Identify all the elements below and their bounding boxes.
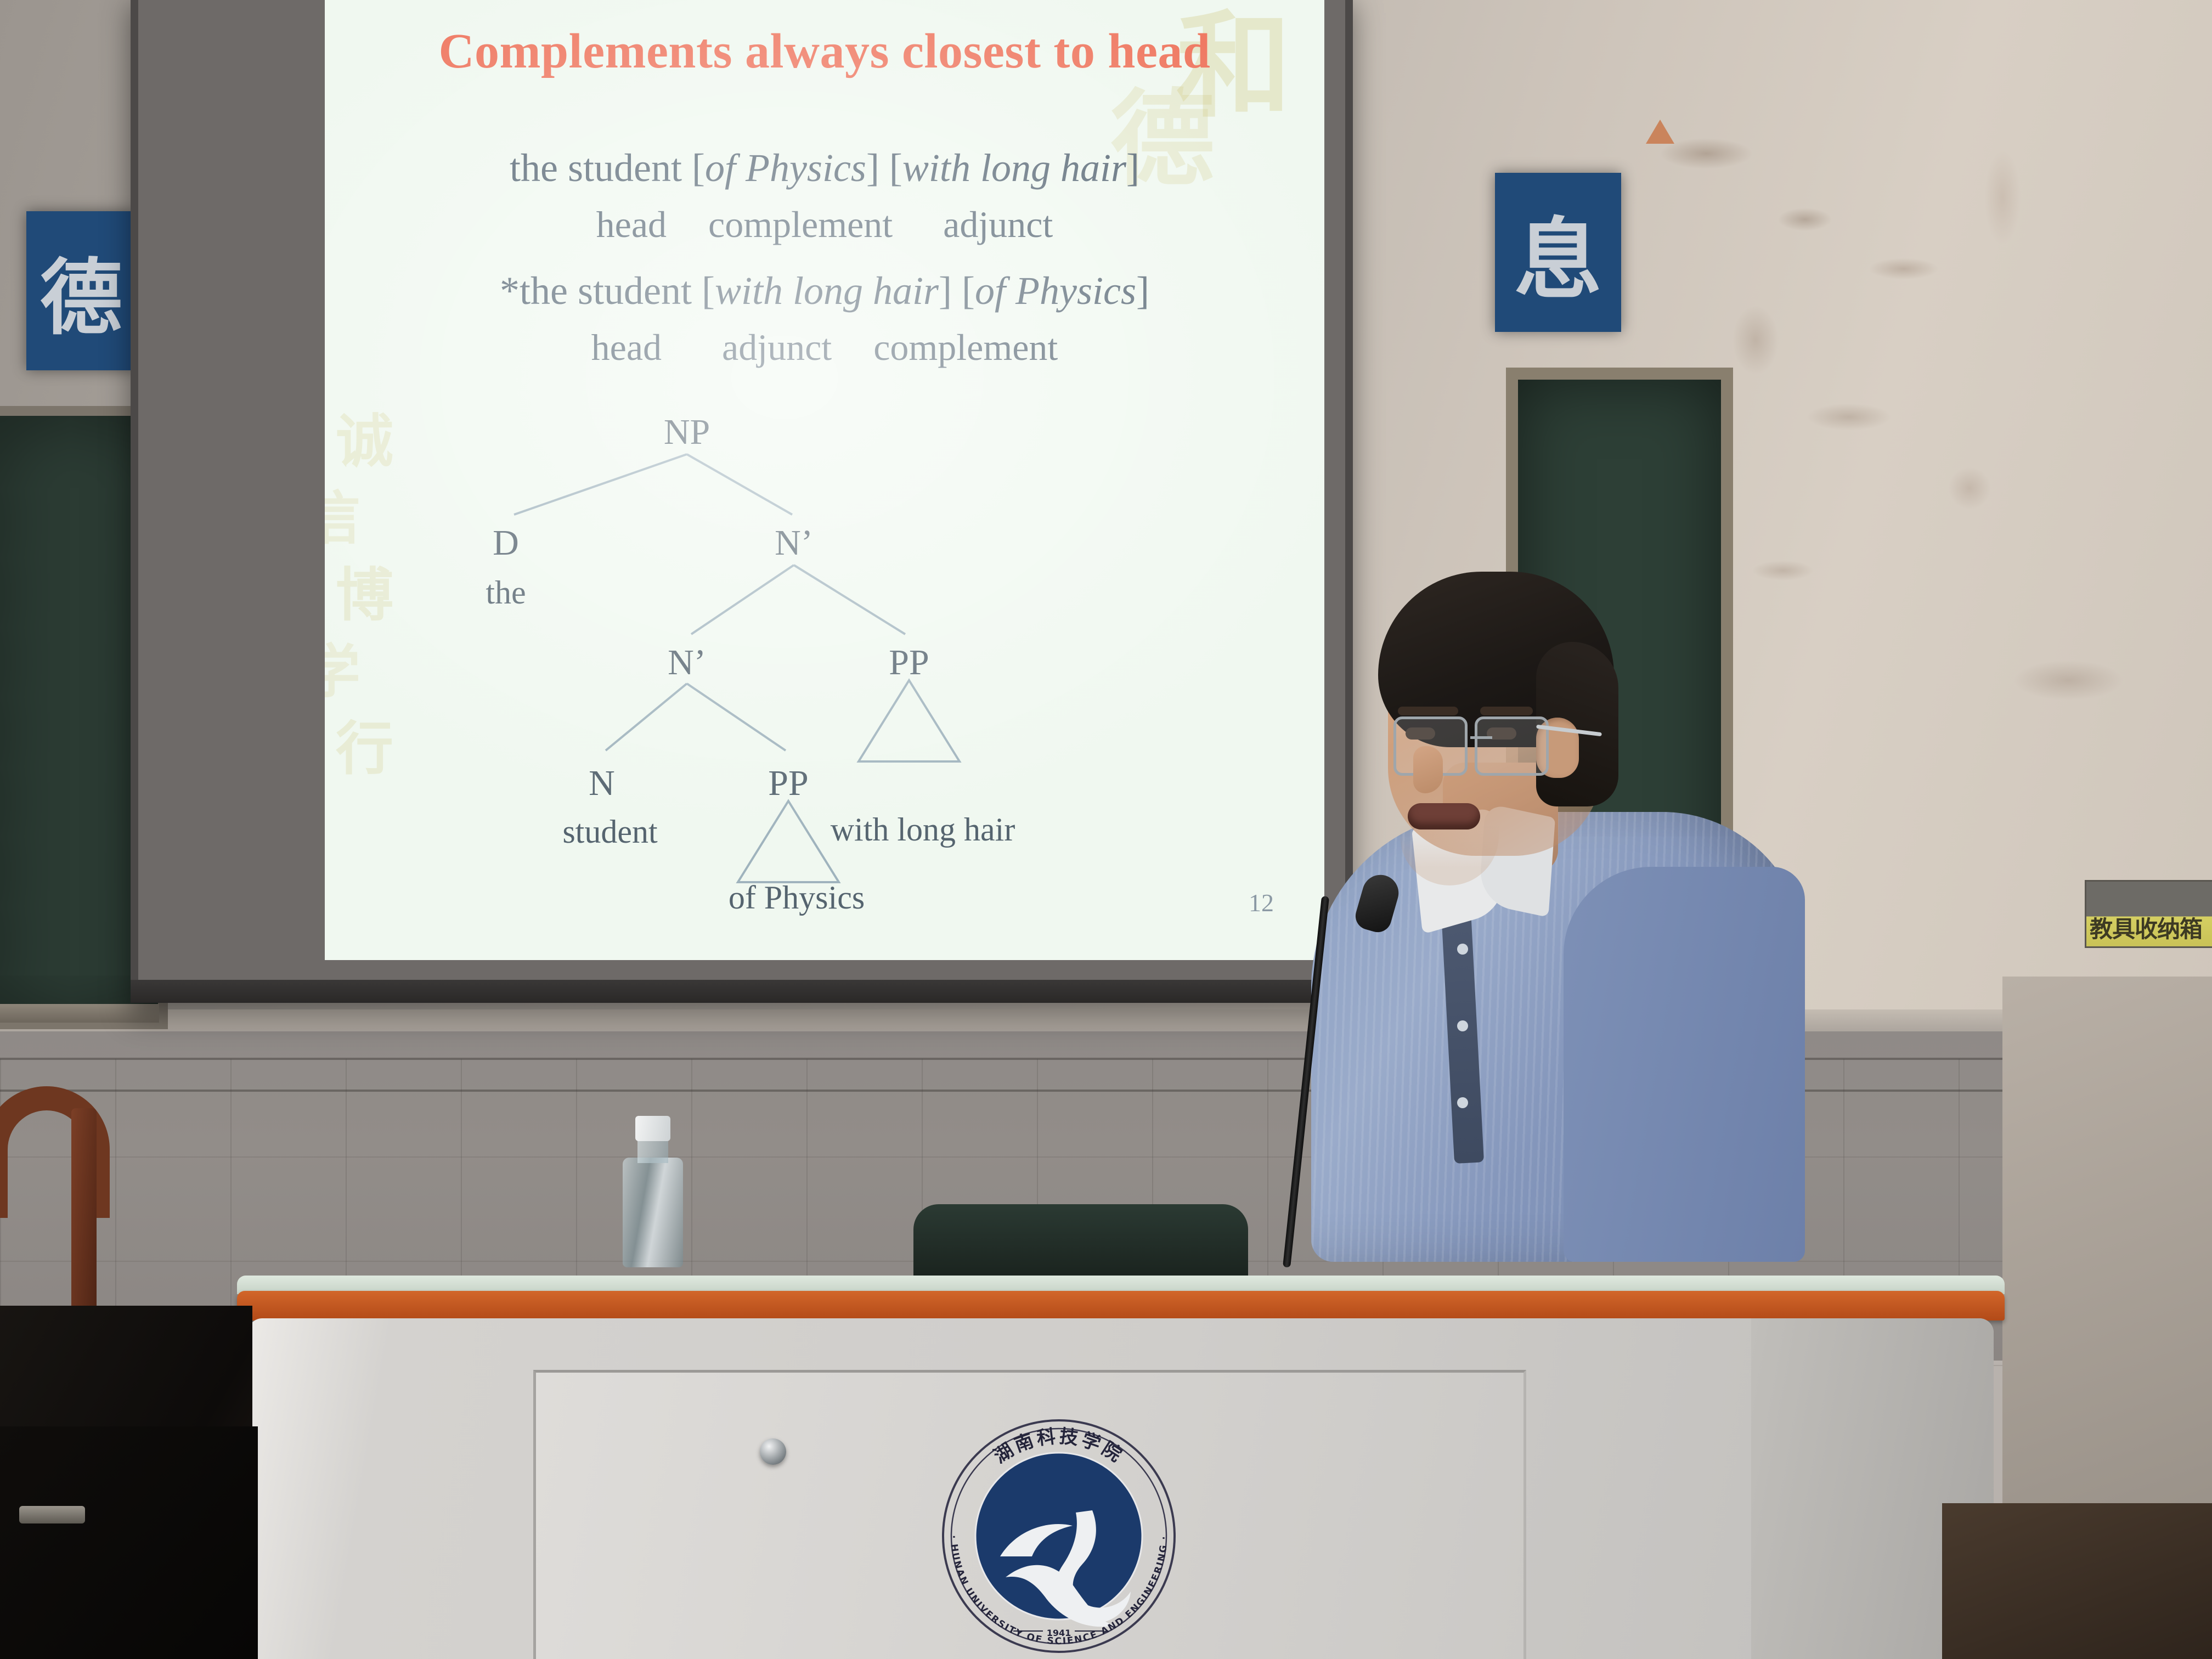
wall-sign-de: 德 [26, 211, 136, 370]
speaker-eyebrow-left [1398, 707, 1458, 715]
example-2-b1-open: [ [702, 269, 715, 313]
label-1-adjunct: adjunct [943, 203, 1053, 246]
right-wall-section [2002, 977, 2212, 1514]
tree-triangle [738, 801, 839, 882]
desk-handle[interactable] [19, 1506, 85, 1523]
tree-node-d: D [493, 522, 519, 564]
tree-edge [691, 565, 794, 634]
example-2-b2-text: of Physics [975, 269, 1136, 313]
example-1-b1-open: [ [692, 146, 705, 190]
wall-line-upper [0, 1058, 2212, 1060]
wall-sign-xi: 息 [1495, 173, 1621, 332]
example-1-prefix: the student [510, 146, 692, 190]
emblem-year: 1941 [1047, 1628, 1071, 1638]
wooden-chair-post [71, 1108, 97, 1322]
projection-screen-bottom-bar [131, 980, 1338, 1003]
tree-edge [606, 684, 687, 751]
example-1-b2-close: ] [1126, 146, 1139, 190]
labels-line-1: headcomplementadjunct [325, 203, 1324, 246]
tree-edge [794, 565, 905, 634]
speaker-nose [1413, 746, 1443, 793]
label-1-head: head [596, 203, 667, 246]
example-2-b2-close: ] [1136, 269, 1149, 313]
example-2-b1-close: ] [939, 269, 952, 313]
example-2-b1-text: with long hair [715, 269, 939, 313]
wall-line-lower [0, 1090, 2212, 1092]
water-bottle-body [623, 1158, 683, 1267]
example-1-b2-open: [ [879, 146, 902, 190]
labels-line-2: headadjunctcomplement [325, 326, 1324, 369]
example-1-b2-text: with long hair [902, 146, 1126, 190]
tree-leaf: the [486, 574, 526, 612]
tree-triangle [859, 680, 960, 761]
equipment-box-label: 教具收纳箱 [2090, 911, 2202, 944]
tree-leaf: student [562, 813, 657, 851]
eyeglasses-bridge [1470, 736, 1492, 739]
podium-wood-trim [237, 1291, 2005, 1321]
chalk-rail-left [0, 1004, 159, 1023]
tree-node-n: N’ [668, 642, 706, 684]
example-2-b2-open: [ [952, 269, 975, 313]
tree-node-n: N’ [775, 522, 813, 564]
chair-backrest [913, 1204, 1248, 1276]
label-2-adjunct: adjunct [722, 326, 832, 369]
lecture-hall-scene: 德 息 教具收纳箱 和 德 诚 信 博 学 行 Complements alwa… [0, 0, 2212, 1659]
university-emblem: · HUNAN UNIVERSITY OF SCIENCE AND ENGINE… [935, 1413, 1182, 1659]
water-bottle-cap [635, 1116, 670, 1141]
speaker-arm [1564, 867, 1805, 1262]
tree-edge [514, 454, 687, 515]
slide-examples: the student [of Physics] [with long hair… [325, 145, 1324, 391]
example-1-b1-close: ] [866, 146, 879, 190]
tree-node-pp: PP [889, 642, 929, 684]
slide-page-number: 12 [1249, 888, 1274, 917]
example-line-1: the student [of Physics] [with long hair… [325, 145, 1324, 191]
example-1-b1-text: of Physics [705, 146, 866, 190]
syntax-tree-diagram: NPDN’N’PPNPPthestudentwith long hairof P… [325, 406, 1324, 944]
tree-edge [687, 684, 786, 751]
speaker-eyebrow-right [1480, 707, 1533, 715]
tree-leaf: with long hair [831, 811, 1015, 849]
label-2-head: head [591, 326, 662, 369]
slide-title: Complements always closest to head [325, 23, 1324, 80]
example-line-2: *the student [with long hair] [of Physic… [325, 268, 1324, 314]
podium-lock-knob[interactable] [760, 1438, 786, 1465]
tree-node-pp: PP [768, 763, 808, 804]
dark-foreground [0, 1426, 258, 1659]
label-2-complement: complement [873, 326, 1058, 369]
shirt-button-3 [1457, 1097, 1468, 1108]
shirt-button-2 [1457, 1020, 1468, 1031]
floor-area [1942, 1503, 2212, 1659]
label-1-complement: complement [708, 203, 893, 246]
tree-edge [687, 454, 792, 515]
presentation-slide: 和 德 诚 信 博 学 行 Complements always closest… [325, 0, 1324, 960]
tree-node-n: N [589, 763, 615, 804]
tree-leaf: of Physics [729, 879, 865, 917]
shirt-button-1 [1457, 944, 1468, 955]
triangle-marking-icon [1646, 120, 1674, 144]
tree-node-np: NP [664, 411, 710, 453]
example-2-prefix: *the student [500, 269, 702, 313]
equipment-box: 教具收纳箱 [2085, 880, 2212, 948]
